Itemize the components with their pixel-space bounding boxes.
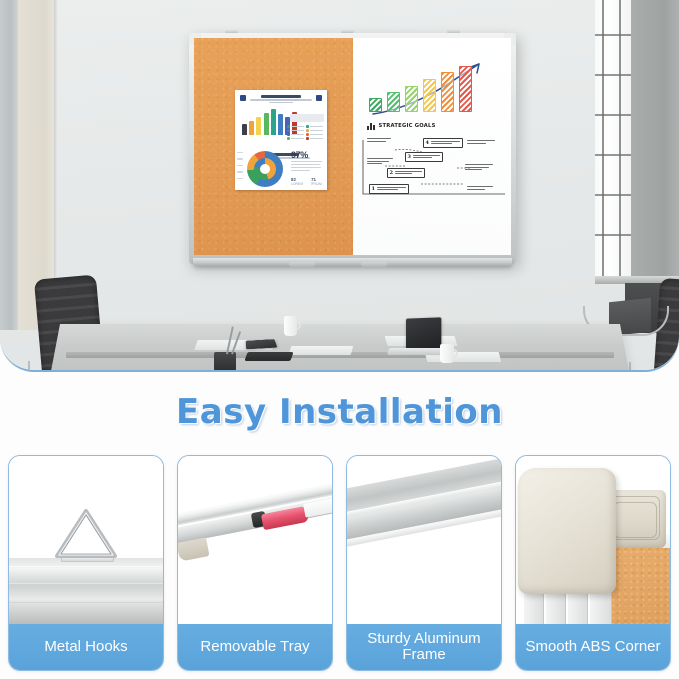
hand-drawn-bar [459, 66, 472, 112]
poster-legend-item [306, 133, 323, 136]
tray-end-cap [178, 537, 210, 561]
bar-chart-icon [367, 122, 375, 130]
poster-legend-item [306, 129, 323, 132]
poster-legend-item [287, 137, 304, 140]
hand-drawn-bar [441, 72, 454, 112]
poster-bar [242, 124, 247, 135]
card-label-aluminum-frame: Sturdy Aluminum Frame [347, 624, 501, 670]
paper-tray [244, 352, 293, 361]
step-box-1: 1 [369, 184, 409, 194]
dry-erase-half: STRATEGIC GOALS [353, 38, 512, 255]
pen-holder [214, 352, 236, 370]
step-box-2: 2 [387, 168, 425, 178]
poster-legend-item [287, 129, 304, 132]
cork-surface [612, 544, 670, 624]
feature-card-metal-hooks[interactable]: Metal Hooks [8, 455, 164, 671]
triangular-hook-icon [50, 506, 122, 562]
hero-lifestyle-photo: 97% 82LOREM 71IPSUM [0, 0, 679, 372]
feature-card-removable-tray[interactable]: Removable Tray [177, 455, 333, 671]
annotation-top-right [467, 140, 495, 145]
mug-right [440, 344, 454, 363]
card-label-metal-hooks: Metal Hooks [9, 624, 163, 670]
poster-legend-item [306, 125, 323, 128]
card-label-removable-tray: Removable Tray [178, 624, 332, 670]
aluminum-frame-photo [347, 456, 501, 624]
step-box-4: 4 [423, 138, 463, 148]
abs-corner-photo [516, 456, 670, 624]
poster-logo-left [240, 95, 246, 101]
step-box-3: 3 [405, 152, 443, 162]
placemat-mid [289, 346, 354, 355]
annotation-mid-left [367, 158, 393, 166]
metal-hooks-photo [9, 456, 163, 624]
wall-right-dark [631, 0, 679, 290]
marker-tray [193, 258, 512, 266]
poster-logo-right [316, 95, 322, 101]
window-partition [595, 0, 631, 278]
poster-legend-item [287, 125, 304, 128]
hand-drawn-bar [423, 79, 436, 112]
feature-card-abs-corner[interactable]: Smooth ABS Corner [515, 455, 671, 671]
poster-bar [249, 121, 254, 135]
annotation-bottom-right [467, 186, 493, 191]
feature-card-row: Metal Hooks Removable Tray Sturdy Alum [8, 455, 671, 671]
cork-bulletin-half: 97% 82LOREM 71IPSUM [194, 38, 353, 255]
poster-bar [271, 109, 276, 135]
strategic-goals-heading: STRATEGIC GOALS [367, 122, 436, 130]
hand-drawn-bar [369, 98, 382, 112]
poster-legend-item [287, 133, 304, 136]
hand-drawn-bar [387, 92, 400, 112]
annotation-top-left [367, 138, 391, 143]
card-label-abs-corner: Smooth ABS Corner [516, 624, 670, 670]
aluminum-frame: 97% 82LOREM 71IPSUM [189, 33, 516, 264]
poster-bar [278, 114, 283, 135]
removable-tray-photo [178, 456, 332, 624]
hand-drawn-bar [405, 86, 418, 112]
poster-donut-chart [243, 150, 287, 188]
hand-drawn-bar-chart [369, 66, 477, 112]
pinned-infographic-poster: 97% 82LOREM 71IPSUM [235, 90, 327, 190]
product-feature-image: 97% 82LOREM 71IPSUM [0, 0, 679, 679]
poster-legend-item [306, 137, 323, 140]
poster-legend [287, 125, 325, 140]
poster-bar [264, 113, 269, 135]
poster-kpi-value: 97% [291, 150, 308, 160]
abs-corner-piece [518, 468, 616, 594]
combination-cork-whiteboard: 97% 82LOREM 71IPSUM [189, 33, 516, 264]
section-title: Easy Installation [0, 392, 679, 432]
wall-left-column [0, 0, 18, 330]
annotation-mid-right [465, 164, 493, 172]
feature-card-aluminum-frame[interactable]: Sturdy Aluminum Frame [346, 455, 502, 671]
poster-bar [256, 117, 261, 135]
